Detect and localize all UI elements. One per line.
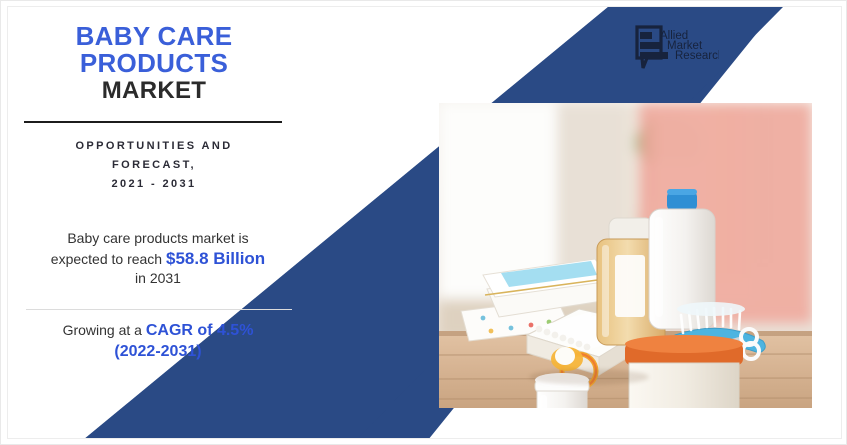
subtitle-line-1: OPPORTUNITIES AND bbox=[8, 137, 300, 156]
product-photo bbox=[439, 103, 812, 408]
stat-prefix: expected to reach bbox=[51, 251, 162, 267]
subtitle-line-2: FORECAST, bbox=[8, 156, 300, 175]
title-divider bbox=[24, 121, 282, 123]
stat-suffix: in 2031 bbox=[135, 270, 181, 286]
cagr-period: (2022-2031) bbox=[114, 343, 201, 360]
cagr-value: CAGR of 4.5% bbox=[146, 322, 254, 339]
cagr-statement: Growing at a CAGR of 4.5% (2022-2031) bbox=[12, 320, 304, 362]
infographic-root: BABY CARE PRODUCTS MARKET OPPORTUNITIES … bbox=[0, 0, 847, 445]
subtitle-line-3: 2021 - 2031 bbox=[8, 175, 300, 194]
market-size-statement: Baby care products market is expected to… bbox=[12, 229, 304, 289]
text-column: BABY CARE PRODUCTS MARKET OPPORTUNITIES … bbox=[8, 7, 308, 439]
logo-line-3: Research bbox=[675, 50, 719, 62]
cagr-prefix: Growing at a bbox=[63, 322, 142, 338]
title-line-3: MARKET bbox=[8, 77, 300, 104]
orange-lid-container bbox=[625, 335, 743, 408]
stat-lead: Baby care products market is bbox=[67, 230, 248, 246]
page-title: BABY CARE PRODUCTS MARKET bbox=[8, 23, 300, 104]
title-line-2: PRODUCTS bbox=[8, 50, 300, 77]
photo-artwork bbox=[439, 103, 812, 408]
infographic-card: BABY CARE PRODUCTS MARKET OPPORTUNITIES … bbox=[7, 6, 842, 439]
stat-value: $58.8 Billion bbox=[166, 249, 265, 268]
allied-market-research-logo: Allied Market Research bbox=[633, 24, 719, 70]
subtitle: OPPORTUNITIES AND FORECAST, 2021 - 2031 bbox=[8, 137, 300, 194]
stat-divider bbox=[26, 309, 292, 310]
title-line-1: BABY CARE bbox=[8, 23, 300, 50]
